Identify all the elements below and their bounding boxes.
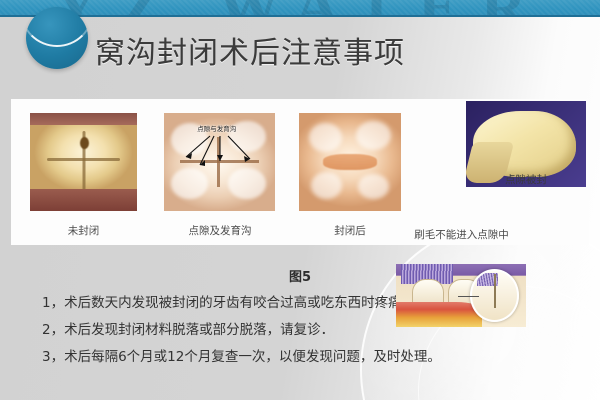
banner-hatch-pattern xyxy=(0,0,600,15)
illustration-bristle-pit xyxy=(396,264,526,327)
caption-after-sealing: 封闭后 xyxy=(299,223,401,238)
photo-pits-fissures: 点隙与发育沟 xyxy=(164,113,275,211)
caption-bristle: 刷毛不能进入点隙中 xyxy=(389,227,534,242)
logo-crescent-arc xyxy=(26,7,88,47)
page-title: 窝沟封闭术后注意事项 xyxy=(95,36,405,72)
illustration-pointer-line xyxy=(458,296,479,297)
illustration-gingiva-layers xyxy=(396,302,482,327)
caption-pits-fissures: 点隙及发育沟 xyxy=(159,223,281,238)
photo-unsealed xyxy=(30,113,137,211)
note-item-3: 3，术后每隔6个月或12个月复查一次，以便发现问题，及时处理。 xyxy=(42,344,582,371)
photo-unsealed-gingiva-bottom xyxy=(30,189,137,211)
top-banner: YZ WATER xyxy=(0,0,600,17)
photo-sealed-highlight-1 xyxy=(309,123,342,152)
photo-sealed-highlight-4 xyxy=(358,174,389,199)
photo-sealed-highlight-3 xyxy=(311,172,342,199)
photo-after-sealing xyxy=(299,113,401,211)
illustration-magnifier-fissure xyxy=(494,274,496,308)
figure-panel: 未封闭 点隙与发育沟 点隙及发育 xyxy=(11,99,589,245)
photo-sealed-highlight-2 xyxy=(356,121,391,150)
caption-sealed-pit: 点隙被封 xyxy=(466,172,586,187)
photo-unsealed-fissure-horizontal xyxy=(47,158,120,161)
caption-unsealed: 未封闭 xyxy=(30,223,137,238)
circular-logo-icon xyxy=(26,7,88,69)
slide-root: YZ WATER 窝沟封闭术后注意事项 未封闭 xyxy=(0,0,600,400)
photo-pits-annotation: 点隙与发育沟 xyxy=(197,123,236,133)
photo-unsealed-gingiva-top xyxy=(30,113,137,125)
photo-sealed-sealant-band xyxy=(323,154,376,170)
photo-unsealed-pit xyxy=(80,137,89,149)
